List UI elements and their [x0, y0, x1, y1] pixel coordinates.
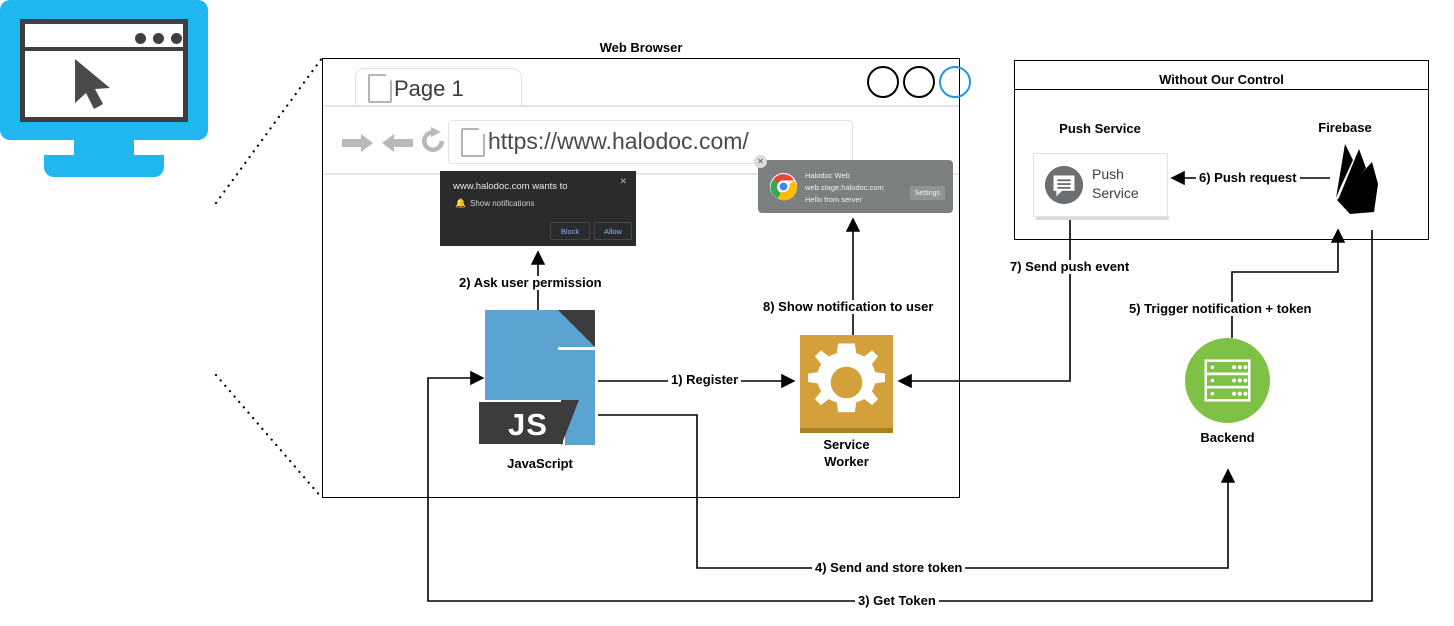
notification-toast[interactable]: ✕ Halodoc Web web.stage.halodoc.com Hell…	[758, 160, 953, 213]
javascript-label: JavaScript	[485, 456, 595, 471]
monitor-browser-bar	[25, 24, 183, 47]
step-label-4: 4) Send and store token	[812, 561, 965, 575]
allow-button[interactable]: Allow	[594, 222, 632, 240]
tab-strip-divider	[324, 105, 959, 107]
toast-origin: web.stage.halodoc.com	[805, 183, 884, 192]
step-label-5: 5) Trigger notification + token	[1126, 302, 1314, 316]
window-circle-3[interactable]	[939, 66, 971, 98]
step-label-7: 7) Send push event	[1007, 260, 1132, 274]
gear-icon	[800, 335, 893, 430]
monitor-dot-1	[135, 33, 146, 44]
monitor-viewport	[25, 51, 183, 117]
url-page-icon	[461, 128, 485, 157]
js-folded-corner	[558, 310, 595, 347]
cursor-arrow-icon	[25, 51, 183, 117]
close-icon[interactable]: ✕	[619, 176, 627, 187]
monitor-screen	[20, 19, 188, 122]
chrome-icon	[770, 173, 797, 200]
window-circle-2[interactable]	[903, 66, 935, 98]
toast-settings-button[interactable]: Settings	[910, 186, 945, 200]
service-worker-label-2: Worker	[800, 454, 893, 469]
js-badge-label: JS	[491, 407, 565, 443]
firebase-label: Firebase	[1290, 120, 1400, 135]
service-worker-node	[800, 335, 893, 430]
step-label-6: 6) Push request	[1196, 171, 1300, 185]
step-label-2: 2) Ask user permission	[456, 276, 605, 290]
message-bubble-icon	[1045, 166, 1083, 204]
monitor-dot-2	[153, 33, 164, 44]
monitor-dot-3	[171, 33, 182, 44]
permission-dialog-item: Show notifications	[470, 199, 534, 208]
notification-permission-dialog[interactable]: www.halodoc.com wants to 🔔 Show notifica…	[440, 171, 636, 246]
step-label-3: 3) Get Token	[855, 594, 939, 608]
service-worker-label-1: Service	[800, 437, 893, 452]
url-text: https://www.halodoc.com/	[488, 128, 749, 155]
block-button[interactable]: Block	[550, 222, 590, 240]
push-service-line-1: Push	[1092, 165, 1139, 184]
external-frame-title: Without Our Control	[1014, 72, 1429, 87]
page-icon	[368, 74, 392, 103]
bell-icon: 🔔	[455, 198, 466, 209]
step-label-8: 8) Show notification to user	[760, 300, 936, 314]
service-worker-shadow	[800, 428, 893, 433]
js-fold-edge	[558, 347, 595, 350]
javascript-node: JS	[485, 310, 595, 445]
push-service-line-2: Service	[1092, 184, 1139, 203]
push-service-node: Push Service	[1033, 153, 1168, 217]
step-label-1: 1) Register	[668, 373, 741, 387]
push-service-box-text: Push Service	[1092, 165, 1139, 203]
server-rack-icon	[1185, 338, 1270, 423]
window-circle-1[interactable]	[867, 66, 899, 98]
backend-label: Backend	[1185, 430, 1270, 445]
browser-frame-title: Web Browser	[322, 40, 960, 55]
toast-app-title: Halodoc Web	[805, 171, 850, 180]
permission-dialog-title: www.halodoc.com wants to	[453, 181, 568, 192]
toast-body: Hello from server	[805, 195, 862, 204]
backend-node	[1185, 338, 1270, 423]
monitor-foot	[44, 155, 164, 177]
browser-tab-label: Page 1	[394, 76, 464, 102]
js-notch	[595, 347, 598, 445]
close-icon[interactable]: ✕	[754, 155, 767, 168]
push-service-label: Push Service	[1030, 121, 1170, 136]
monitor-body	[0, 0, 208, 140]
